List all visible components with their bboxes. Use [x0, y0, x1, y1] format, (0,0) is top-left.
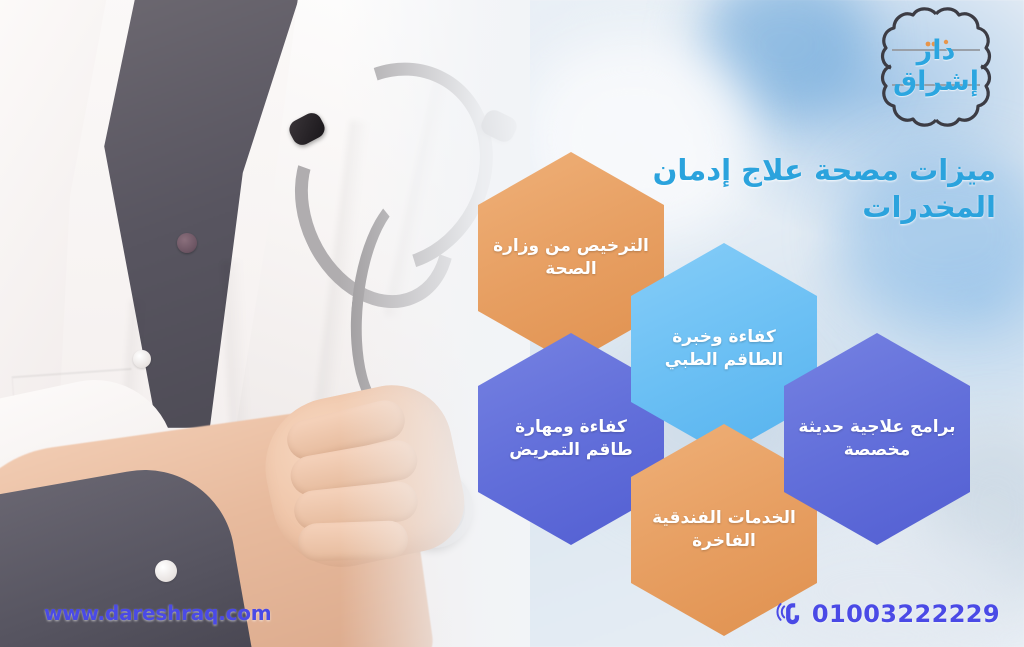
phone-contact[interactable]: 01003222229 — [775, 600, 1000, 628]
feature-label: كفاءة ومهارة طاقم التمريض — [478, 416, 664, 462]
feature-label: الخدمات الفندقية الفاخرة — [631, 507, 817, 553]
feature-hexagon-cluster: الترخيص من وزارة الصحة كفاءة ومهارة طاقم… — [0, 0, 1024, 647]
phone-call-icon — [775, 601, 805, 628]
feature-label: برامج علاجية حديثة مخصصة — [784, 416, 970, 462]
website-link[interactable]: www.dareshraq.com — [44, 601, 271, 625]
phone-number: 01003222229 — [812, 600, 1000, 628]
feature-label: الترخيص من وزارة الصحة — [478, 235, 664, 281]
feature-label: كفاءة وخبرة الطاقم الطبي — [631, 326, 817, 372]
poster-canvas: دار إشراق ميزات مصحة علاج إدمان المخدرات… — [0, 0, 1024, 647]
